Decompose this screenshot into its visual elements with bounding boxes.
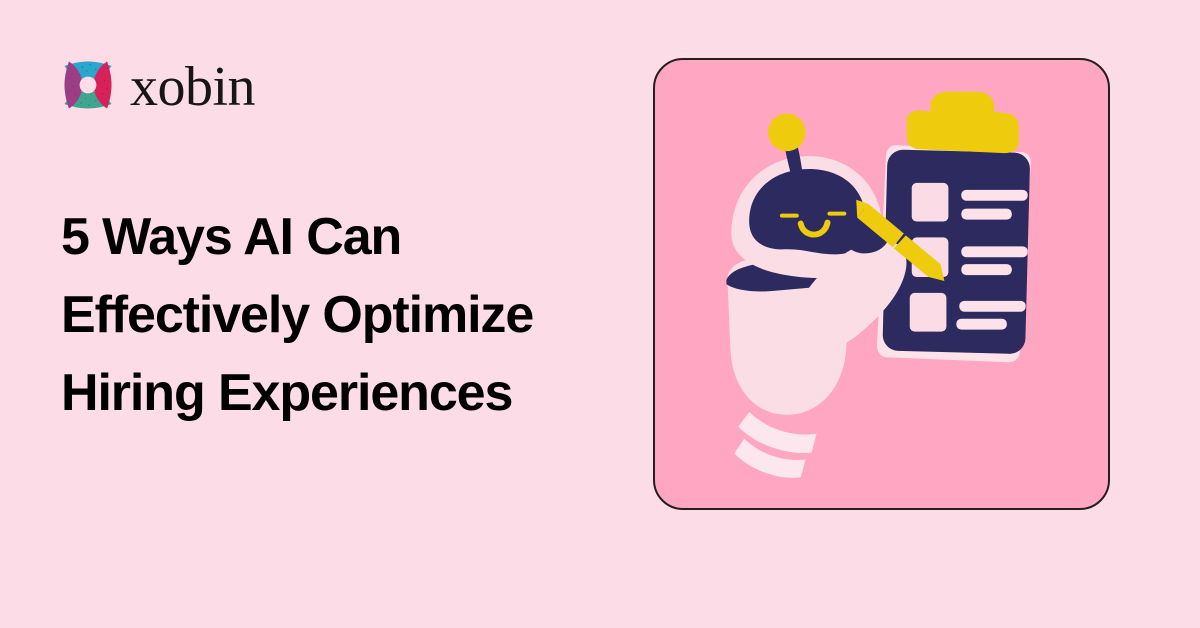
hover-motion-lines-icon	[734, 412, 816, 478]
headline-line-2: Effectively Optimize	[61, 276, 651, 354]
line-short	[961, 264, 1012, 275]
clipboard-clip-icon	[907, 92, 1019, 153]
empty-checkbox-icon	[910, 293, 947, 332]
line-short	[961, 209, 1012, 220]
headline-line-1: 5 Ways AI Can	[61, 198, 651, 276]
brand-logo[interactable]: xobin	[60, 57, 255, 113]
robot-checklist-illustration	[655, 60, 1108, 508]
xobin-petal-circle-logo-icon	[60, 57, 116, 113]
line-long	[959, 301, 1025, 312]
social-banner: xobin 5 Ways AI Can Effectively Optimize…	[0, 0, 1200, 628]
illustration-card	[653, 58, 1110, 510]
headline-line-3: Hiring Experiences	[61, 354, 651, 432]
brand-wordmark: xobin	[130, 59, 255, 115]
page-title: 5 Ways AI Can Effectively Optimize Hirin…	[61, 198, 651, 432]
line-long	[961, 190, 1027, 201]
line-short	[956, 319, 1007, 330]
line-long	[961, 246, 1027, 257]
empty-checkbox-icon	[912, 183, 949, 222]
